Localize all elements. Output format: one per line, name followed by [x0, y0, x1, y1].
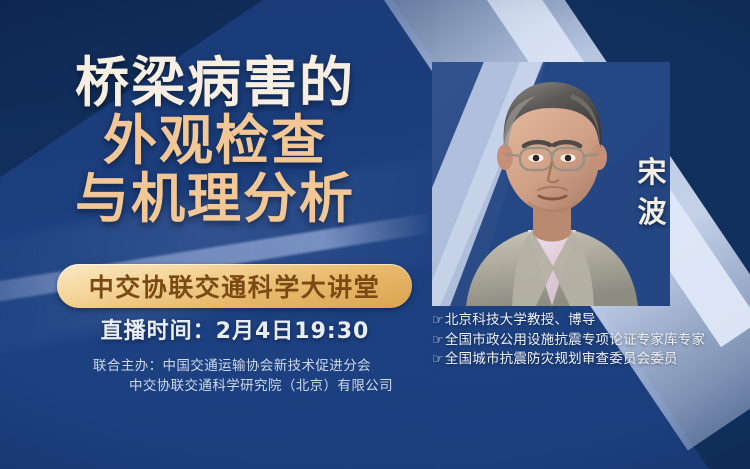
speaker-name: 宋 波 — [630, 152, 674, 232]
credential-text: 北京科技大学教授、博导 — [445, 311, 596, 330]
headline-line-1: 桥梁病害的 — [0, 56, 430, 110]
program-name-label: 中交协联交通科学大讲堂 — [89, 268, 381, 304]
headline-line-2: 外观检查 — [0, 114, 430, 168]
credential-text: 全国城市抗震防灾规划审查委员会委员 — [445, 350, 678, 369]
speaker-name-char-2: 波 — [630, 192, 674, 232]
pointing-hand-icon: ☞ — [432, 351, 444, 370]
speaker-name-char-1: 宋 — [630, 152, 674, 192]
credential-row: ☞ 全国城市抗震防灾规划审查委员会委员 — [432, 350, 705, 370]
live-stream-poster: 桥梁病害的 外观检查 与机理分析 中交协联交通科学大讲堂 直播时间：2月4日19… — [0, 0, 750, 469]
speaker-credentials: ☞ 北京科技大学教授、博导 ☞ 全国市政公用设施抗震专项论证专家库专家 ☞ 全国… — [432, 311, 705, 370]
organizers-block: 联合主办：中国交通运输协会新技术促进分会 中交协联交通科学研究院（北京）有限公司 — [0, 356, 464, 396]
program-name-badge: 中交协联交通科学大讲堂 — [57, 264, 412, 308]
credential-text: 全国市政公用设施抗震专项论证专家库专家 — [445, 331, 705, 350]
credential-row: ☞ 北京科技大学教授、博导 — [432, 311, 705, 331]
organizer-line-2: 中交协联交通科学研究院（北京）有限公司 — [0, 376, 464, 396]
credential-row: ☞ 全国市政公用设施抗震专项论证专家库专家 — [432, 331, 705, 351]
organizer-line-1: 联合主办：中国交通运输协会新技术促进分会 — [0, 356, 464, 376]
pointing-hand-icon: ☞ — [432, 312, 444, 331]
broadcast-time: 直播时间：2月4日19:30 — [0, 313, 470, 345]
headline-line-3: 与机理分析 — [0, 172, 430, 226]
pointing-hand-icon: ☞ — [432, 332, 444, 351]
poster-headline: 桥梁病害的 外观检查 与机理分析 — [0, 56, 430, 230]
